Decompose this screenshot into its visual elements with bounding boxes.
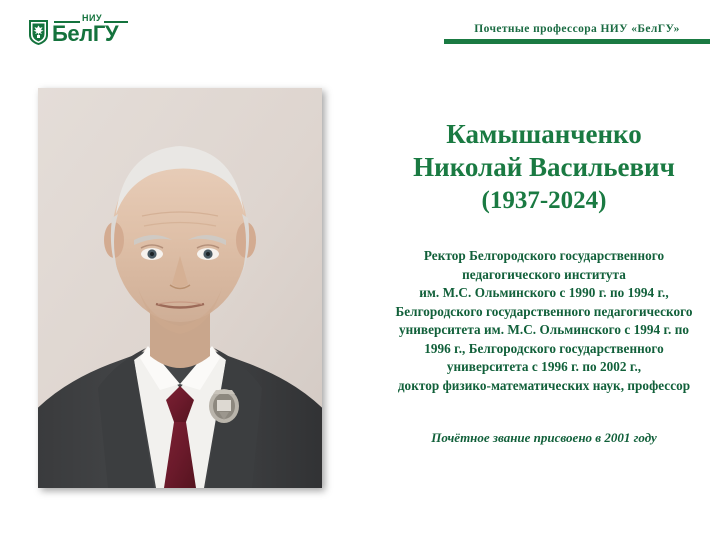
- belgu-shield-emblem-icon: [28, 19, 49, 46]
- portrait-photo: [38, 88, 322, 488]
- person-life-years: (1937-2024): [372, 185, 716, 217]
- header-underline-rule: [444, 39, 710, 44]
- header-title: Почетные профессора НИУ «БелГУ»: [444, 22, 710, 36]
- person-biography: Ректор Белгородского государственного пе…: [372, 247, 716, 395]
- slide-root: { "colors": { "brand_green": "#1a7a42", …: [0, 0, 720, 540]
- portrait-illustration: [38, 88, 322, 488]
- bio-line: университета с 1996 г. по 2002 г.,: [372, 358, 716, 377]
- bio-line: Ректор Белгородского государственного: [372, 247, 716, 266]
- bio-line: Белгородского государственного педагогич…: [372, 303, 716, 322]
- bio-line: университета им. М.С. Ольминского с 1994…: [372, 321, 716, 340]
- logo-belgu-text: БелГУ: [52, 22, 118, 46]
- bio-line: им. М.С. Ольминского с 1990 г. по 1994 г…: [372, 284, 716, 303]
- person-surname: Камышанченко: [372, 118, 716, 151]
- bio-line: доктор физико-математических наук, профе…: [372, 377, 716, 396]
- belgu-logo[interactable]: НИУ БелГУ: [28, 14, 130, 48]
- honorary-title-note: Почётное звание присвоено в 2001 году: [372, 429, 716, 446]
- belgu-wordmark: НИУ БелГУ: [52, 14, 130, 48]
- header-banner: Почетные профессора НИУ «БелГУ»: [444, 22, 710, 44]
- bio-line: педагогического института: [372, 266, 716, 285]
- person-given-name: Николай Васильевич: [372, 151, 716, 184]
- person-info-block: Камышанченко Николай Васильевич (1937-20…: [372, 118, 716, 446]
- bio-line: 1996 г., Белгородского государственного: [372, 340, 716, 359]
